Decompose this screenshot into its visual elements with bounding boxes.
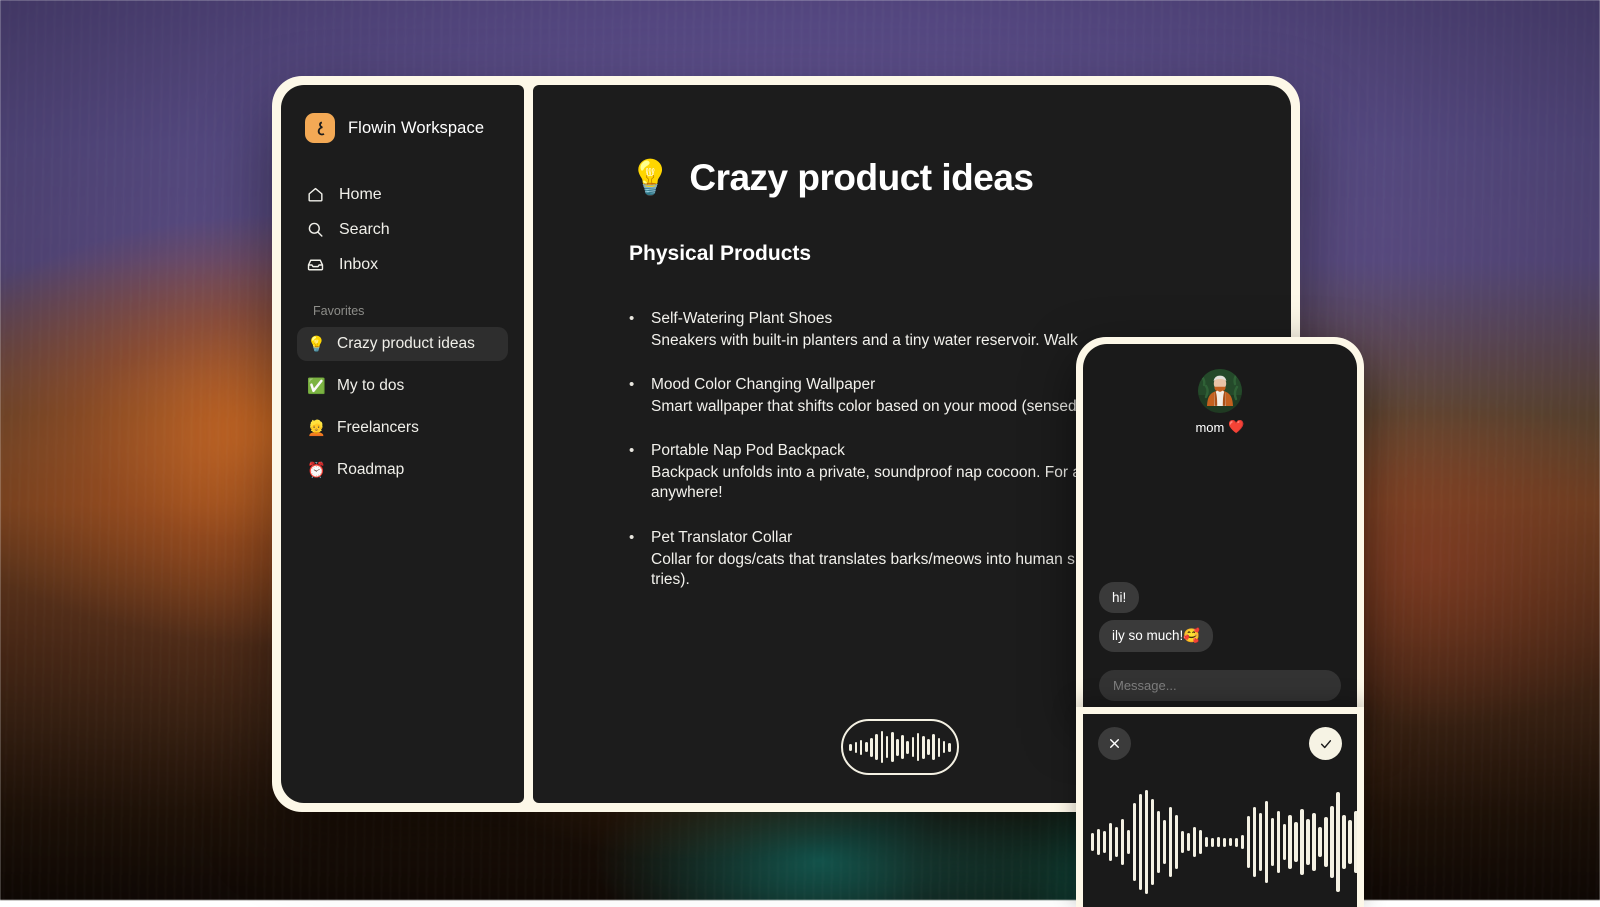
phone-recorder-screen xyxy=(1083,714,1357,907)
waveform-bar xyxy=(1121,819,1124,865)
waveform-bar xyxy=(1145,790,1148,894)
waveform-bar xyxy=(917,733,920,761)
inbox-icon xyxy=(305,254,326,275)
waveform-bar xyxy=(901,735,904,759)
waveform-bar xyxy=(1294,822,1297,862)
sidebar-item-my-to-dos[interactable]: ✅ My to dos xyxy=(297,369,508,403)
waveform-bar xyxy=(870,738,873,757)
sidebar-item-roadmap[interactable]: ⏰ Roadmap xyxy=(297,453,508,487)
waveform-bar xyxy=(1181,831,1184,853)
waveform-bar xyxy=(1253,807,1256,877)
waveform-bar xyxy=(1330,806,1333,878)
waveform-bar xyxy=(912,737,915,757)
waveform-bar xyxy=(1265,801,1268,883)
check-mark-button-icon: ✅ xyxy=(307,377,326,395)
phone-chat-window: mom ❤️ hi! ily so much!🥰 Message... xyxy=(1076,337,1364,710)
chat-message-input-placeholder: Message... xyxy=(1113,678,1177,693)
flowin-logo-icon xyxy=(305,113,335,143)
waveform-bar xyxy=(1277,811,1280,873)
confirm-recording-button[interactable] xyxy=(1309,727,1342,760)
waveform-bar xyxy=(1157,811,1160,873)
cancel-recording-button[interactable] xyxy=(1098,727,1131,760)
waveform-bar xyxy=(1163,820,1166,864)
waveform-bar xyxy=(1187,833,1190,851)
sidebar-item-home-label: Home xyxy=(339,186,382,204)
sidebar: Flowin Workspace Home Search xyxy=(281,85,524,803)
waveform-bar xyxy=(943,741,946,753)
lightbulb-icon: 💡 xyxy=(307,335,326,353)
page-title: Crazy product ideas xyxy=(689,157,1033,199)
alarm-clock-icon: ⏰ xyxy=(307,461,326,479)
waveform-bar xyxy=(1247,816,1250,868)
waveform-bar xyxy=(875,734,878,760)
search-icon xyxy=(305,219,326,240)
waveform-bar xyxy=(881,731,884,763)
waveform-bar xyxy=(1103,831,1106,853)
waveform-bar xyxy=(1223,838,1226,847)
close-icon xyxy=(1108,737,1121,750)
chat-contact-header: mom ❤️ xyxy=(1083,344,1357,435)
waveform-bar xyxy=(1151,799,1154,885)
waveform-bar xyxy=(1324,817,1327,867)
waveform-bar xyxy=(1127,830,1130,854)
home-icon xyxy=(305,184,326,205)
waveform-bar xyxy=(1169,807,1172,877)
waveform-bar xyxy=(1193,827,1196,857)
waveform-bar xyxy=(1133,803,1136,881)
waveform-bar xyxy=(1097,829,1100,855)
waveform-bar xyxy=(906,741,909,754)
page-title-row: 💡 Crazy product ideas xyxy=(629,157,1291,199)
chat-message-text: hi! xyxy=(1112,590,1126,605)
sidebar-item-crazy-product-ideas[interactable]: 💡 Crazy product ideas xyxy=(297,327,508,361)
sidebar-item-inbox[interactable]: Inbox xyxy=(297,247,508,282)
waveform-bar xyxy=(927,739,930,755)
sidebar-item-inbox-label: Inbox xyxy=(339,256,378,274)
waveform-bar xyxy=(855,742,858,753)
waveform-bar xyxy=(948,743,951,752)
waveform-bar xyxy=(1271,818,1274,866)
recording-waveform[interactable] xyxy=(1091,782,1349,902)
waveform-bar xyxy=(886,736,889,758)
chat-message-input[interactable]: Message... xyxy=(1099,670,1341,701)
waveform-bar xyxy=(1241,835,1244,849)
waveform-bar xyxy=(1235,838,1238,847)
sidebar-item-search[interactable]: Search xyxy=(297,212,508,247)
lightbulb-icon: 💡 xyxy=(629,158,671,198)
waveform-bar xyxy=(1175,815,1178,869)
waveform-bar xyxy=(865,742,868,752)
favorites-section-label: Favorites xyxy=(305,304,508,318)
waveform-bar xyxy=(1217,837,1220,847)
sidebar-item-freelancers[interactable]: 👱 Freelancers xyxy=(297,411,508,445)
sidebar-item-home[interactable]: Home xyxy=(297,177,508,212)
chat-message-list: hi! ily so much!🥰 xyxy=(1099,582,1213,652)
waveform-bar xyxy=(1306,819,1309,865)
red-heart-icon: ❤️ xyxy=(1228,420,1244,435)
waveform-bar xyxy=(1300,809,1303,875)
idea-title: Self-Watering Plant Shoes xyxy=(651,310,1291,328)
chat-message-text: ily so much! xyxy=(1112,628,1183,643)
workspace-name: Flowin Workspace xyxy=(348,119,484,138)
waveform-bar xyxy=(1205,837,1208,847)
voice-record-button[interactable] xyxy=(841,719,959,775)
waveform-bar xyxy=(1348,820,1351,864)
waveform-bar xyxy=(1259,813,1262,871)
phone-recorder-window xyxy=(1076,707,1364,907)
chat-contact-name: mom xyxy=(1195,420,1224,435)
waveform-bar xyxy=(1109,823,1112,861)
primary-nav: Home Search Inbox xyxy=(297,177,508,282)
waveform-bar xyxy=(1336,792,1339,892)
chat-contact-name-row: mom ❤️ xyxy=(1195,420,1244,435)
waveform-bar xyxy=(849,744,852,751)
waveform-bar xyxy=(1342,815,1345,869)
phone-chat-screen: mom ❤️ hi! ily so much!🥰 Message... xyxy=(1083,344,1357,710)
sidebar-item-freelancers-label: Freelancers xyxy=(337,419,419,437)
waveform-bar xyxy=(1091,833,1094,851)
waveform-bar xyxy=(1288,815,1291,869)
smiling-face-with-hearts-icon: 🥰 xyxy=(1183,628,1200,644)
waveform-bar xyxy=(891,732,894,762)
waveform-bar xyxy=(1354,811,1357,873)
sidebar-item-search-label: Search xyxy=(339,221,390,239)
waveform-bar xyxy=(1318,827,1321,857)
check-icon xyxy=(1319,737,1333,751)
waveform-bar xyxy=(1139,794,1142,890)
sidebar-item-roadmap-label: Roadmap xyxy=(337,461,404,479)
sidebar-item-my-to-dos-label: My to dos xyxy=(337,377,404,395)
favorites-list: 💡 Crazy product ideas ✅ My to dos 👱 Free… xyxy=(297,327,508,487)
waveform-bar xyxy=(922,736,925,759)
waveform-bar xyxy=(1283,824,1286,860)
waveform-bar xyxy=(860,740,863,755)
waveform-bar xyxy=(1115,827,1118,857)
chat-message-bubble: ily so much!🥰 xyxy=(1099,620,1213,652)
section-heading: Physical Products xyxy=(629,242,1291,266)
waveform-bar xyxy=(896,739,899,756)
avatar[interactable] xyxy=(1198,369,1242,413)
sidebar-item-crazy-product-ideas-label: Crazy product ideas xyxy=(337,335,475,353)
workspace-switcher[interactable]: Flowin Workspace xyxy=(297,113,508,143)
person-icon: 👱 xyxy=(307,419,326,437)
waveform-bar xyxy=(932,734,935,760)
waveform-bar xyxy=(1199,830,1202,854)
waveform-bar xyxy=(1312,813,1315,871)
chat-message-bubble: hi! xyxy=(1099,582,1139,613)
waveform-bar xyxy=(1229,838,1232,846)
waveform-bar xyxy=(938,738,941,757)
waveform-bar xyxy=(1211,838,1214,847)
